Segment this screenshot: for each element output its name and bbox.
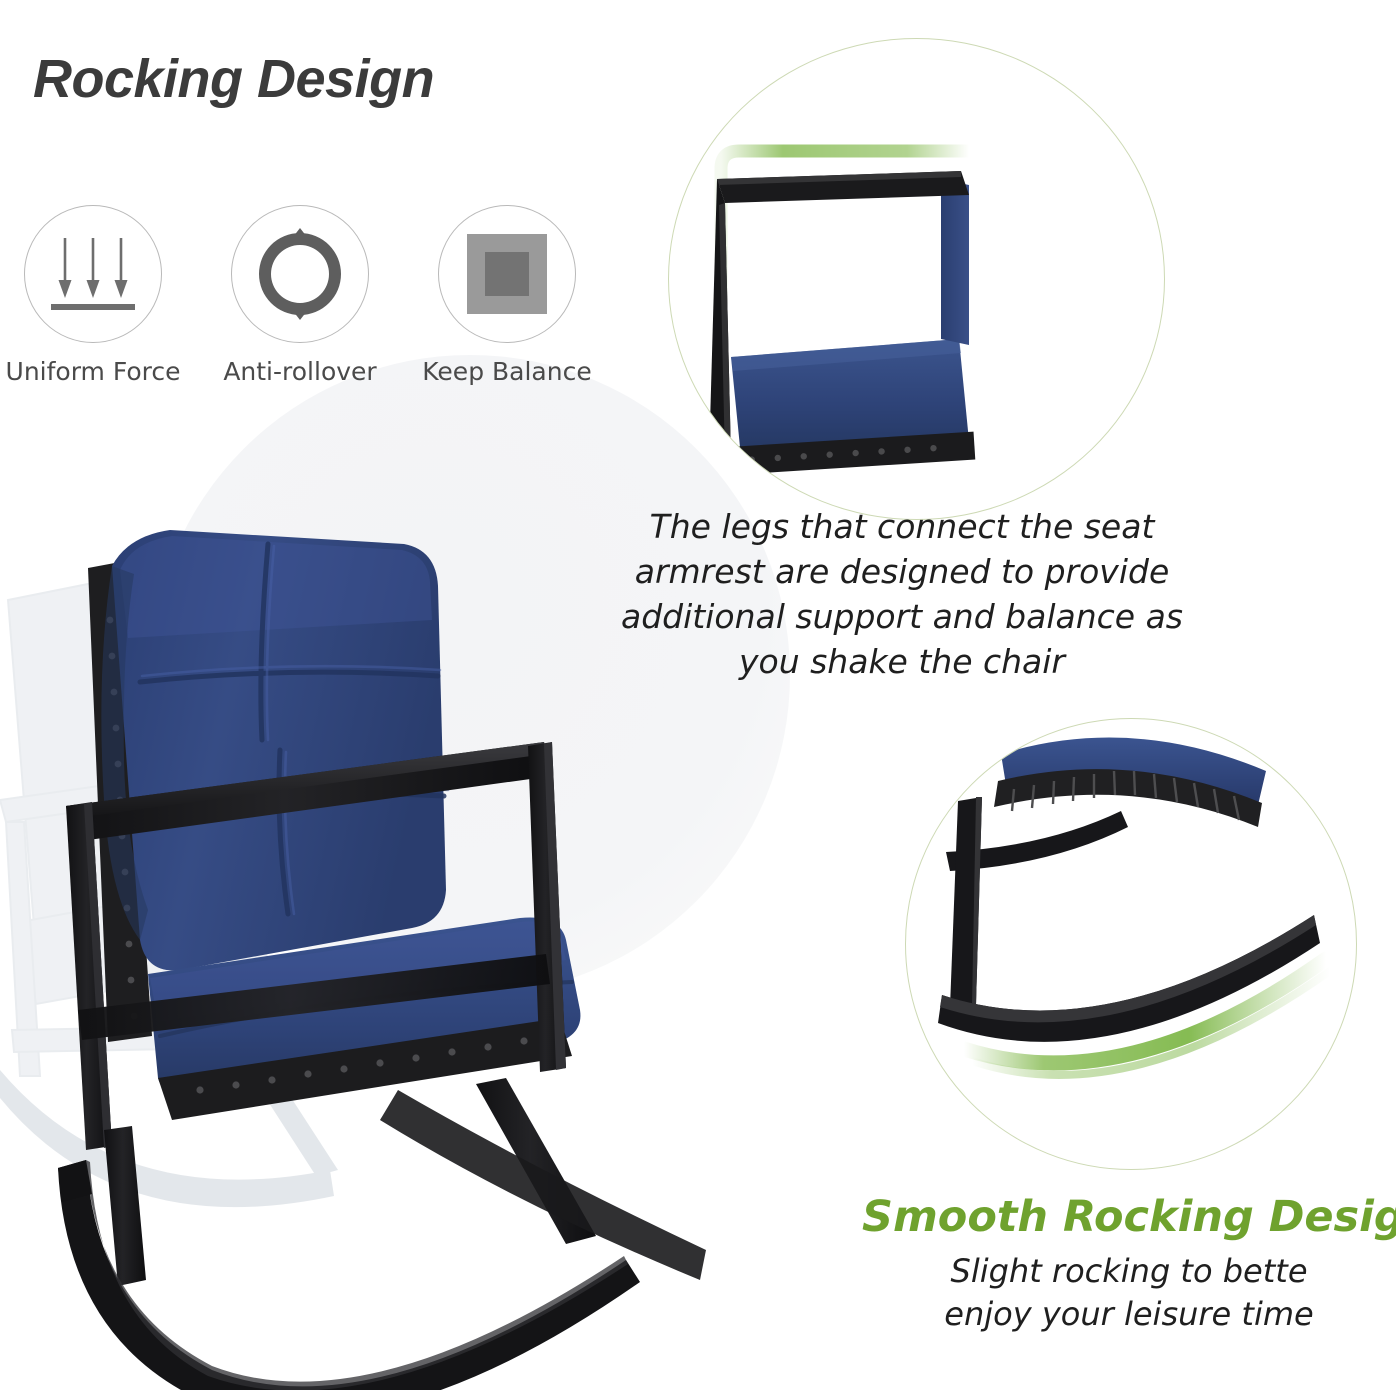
feature-label: Anti-rollover	[223, 357, 376, 386]
feature-anti-rollover: Anti-rollover	[225, 205, 375, 386]
smooth-rocking-subtext-line2: enjoy your leisure time	[862, 1293, 1396, 1336]
feature-uniform-force: Uniform Force	[18, 205, 168, 386]
feature-keep-balance: Keep Balance	[432, 205, 582, 386]
feature-icon-circle	[231, 205, 369, 343]
down-arrows-on-bar-icon	[43, 226, 143, 322]
feature-icon-circle	[24, 205, 162, 343]
feature-label: Uniform Force	[6, 357, 181, 386]
rocker-base-detail-inset	[905, 718, 1357, 1170]
circular-rotation-arrows-icon	[250, 224, 350, 324]
navy-cushion-rocking-chair	[0, 470, 860, 1390]
armrest-leg-detail-inset	[668, 38, 1165, 520]
infographic-canvas: Rocking Design	[0, 0, 1396, 1396]
feature-icon-row: Uniform Force Anti-rollover	[18, 205, 582, 386]
feature-label: Keep Balance	[422, 357, 591, 386]
page-title: Rocking Design	[33, 48, 434, 110]
smooth-rocking-heading: Smooth Rocking Design	[862, 1192, 1396, 1242]
smooth-rocking-subtext-line1: Slight rocking to bette	[862, 1250, 1396, 1293]
product-image	[0, 470, 860, 1390]
smooth-rocking-subtext: Slight rocking to bette enjoy your leisu…	[862, 1250, 1396, 1336]
feature-icon-circle	[438, 205, 576, 343]
nested-squares-icon	[463, 230, 551, 318]
